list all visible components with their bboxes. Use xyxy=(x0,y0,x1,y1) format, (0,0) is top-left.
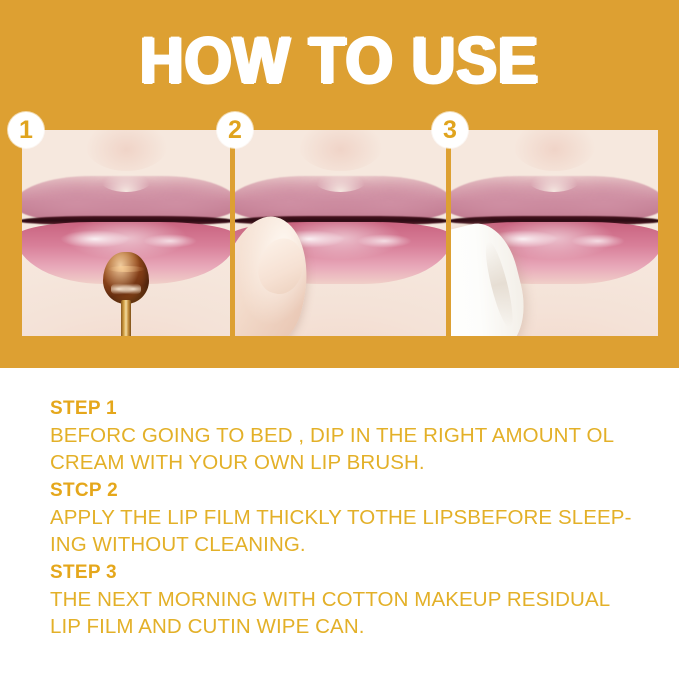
lip-gloss-highlight-secondary xyxy=(571,234,625,248)
photo-panel-step-1 xyxy=(22,130,230,336)
instruction-step-1: STEP 1 BEFORC GOING TO BED , DIP IN THE … xyxy=(50,396,650,476)
page-title: HOW TO USE xyxy=(27,26,652,94)
cupids-bow-highlight xyxy=(315,170,365,192)
lip-gloss-highlight-secondary xyxy=(143,234,197,248)
photo-strip xyxy=(22,130,658,336)
how-to-use-infographic: HOW TO USE xyxy=(0,0,679,679)
instructions-list: STEP 1 BEFORC GOING TO BED , DIP IN THE … xyxy=(50,396,650,642)
applicator-wand-head-icon xyxy=(103,252,149,304)
step-3-heading: STEP 3 xyxy=(50,560,650,586)
cupids-bow-highlight xyxy=(101,170,151,192)
step-2-body: APPLY THE LIP FILM THICKLY TOTHE LIPSBEF… xyxy=(50,504,650,558)
step-badge-1: 1 xyxy=(8,112,44,148)
photo-panel-step-3 xyxy=(451,130,658,336)
step-badge-2: 2 xyxy=(217,112,253,148)
lip-gloss-highlight-secondary xyxy=(357,234,412,248)
step-2-heading: STCP 2 xyxy=(50,478,650,504)
instruction-step-2: STCP 2 APPLY THE LIP FILM THICKLY TOTHE … xyxy=(50,478,650,558)
instruction-step-3: STEP 3 THE NEXT MORNING WITH COTTON MAKE… xyxy=(50,560,650,640)
cupids-bow-highlight xyxy=(529,170,579,192)
photo-panel-step-2 xyxy=(235,130,445,336)
step-3-body: THE NEXT MORNING WITH COTTON MAKEUP RESI… xyxy=(50,586,650,640)
applicator-wand-handle-icon xyxy=(121,300,131,336)
step-1-body: BEFORC GOING TO BED , DIP IN THE RIGHT A… xyxy=(50,422,650,476)
step-badge-3: 3 xyxy=(432,112,468,148)
lip-gloss-highlight xyxy=(60,230,131,248)
step-1-heading: STEP 1 xyxy=(50,396,650,422)
